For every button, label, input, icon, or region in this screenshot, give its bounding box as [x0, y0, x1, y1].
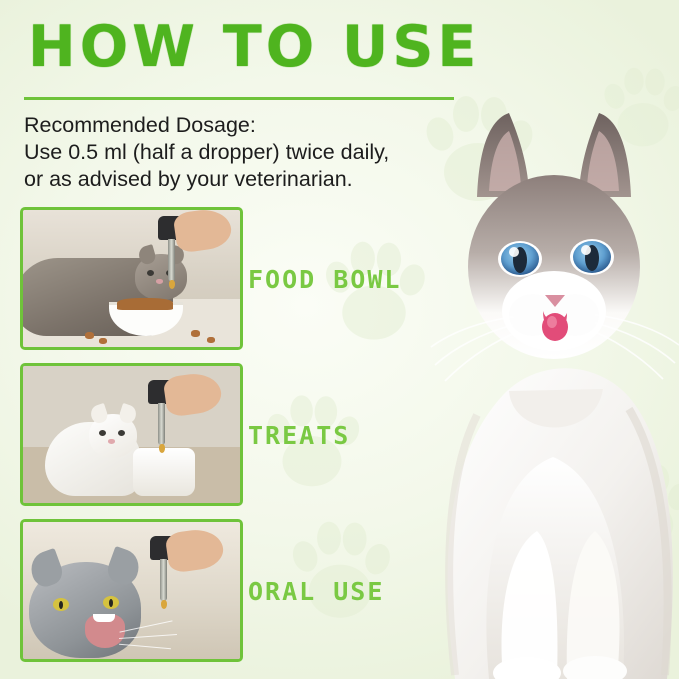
usage-label-treats: TREATS — [248, 421, 350, 450]
dosage-line-3: or as advised by your veterinarian. — [24, 166, 464, 193]
scene-oral-use — [23, 522, 240, 659]
dosage-line-1: Recommended Dosage: — [24, 112, 464, 139]
dosage-text: Recommended Dosage: Use 0.5 ml (half a d… — [24, 112, 464, 193]
dropper — [149, 216, 195, 288]
usage-label-oral-use: ORAL USE — [248, 577, 384, 606]
cat-teeth — [93, 614, 115, 622]
paw-print-icon — [285, 512, 395, 632]
how-to-use-poster: HOW TO USE Recommended Dosage: Use 0.5 m… — [0, 0, 679, 679]
usage-photo-treats — [20, 363, 243, 506]
dropper — [139, 380, 185, 452]
cat-head — [89, 414, 137, 458]
title-divider — [24, 97, 454, 100]
usage-label-food-bowl: FOOD BOWL — [248, 265, 401, 294]
water-fountain — [133, 448, 195, 496]
scene-treats — [23, 366, 240, 503]
usage-photo-oral-use — [20, 519, 243, 662]
page-title: HOW TO USE — [28, 14, 458, 80]
dosage-line-2: Use 0.5 ml (half a dropper) twice daily, — [24, 139, 464, 166]
usage-photo-food-bowl — [20, 207, 243, 350]
dropper — [141, 536, 187, 608]
scene-food-bowl — [23, 210, 240, 347]
hero-cat-image — [417, 79, 679, 679]
